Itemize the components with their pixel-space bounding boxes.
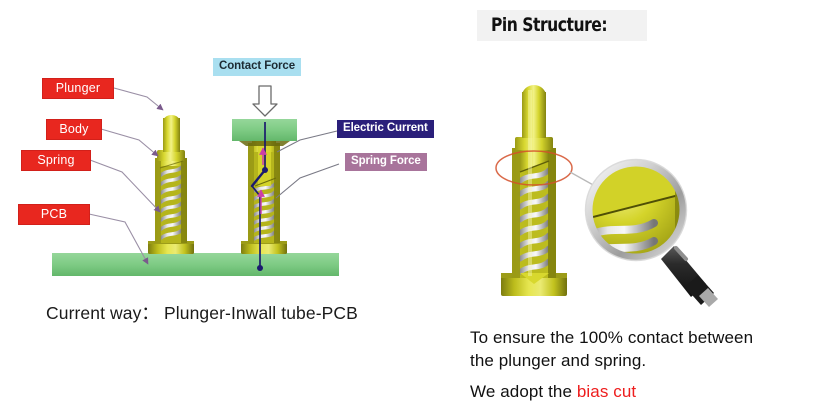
leader-spring-force <box>276 164 339 198</box>
pcb-board <box>52 253 339 276</box>
pin-structure-note: To ensure the 100% contact between the p… <box>470 326 820 403</box>
leader-spring <box>90 160 160 212</box>
leader-lines-left <box>89 88 163 264</box>
left-caption: Current way： Plunger-Inwall tube-PCB <box>46 300 358 325</box>
label-plunger[interactable]: Plunger <box>42 78 114 99</box>
right-pin-structure-illustration <box>470 60 829 320</box>
pin-detailed <box>501 85 567 296</box>
note-line-1: To ensure the 100% contact between <box>470 326 820 349</box>
magnifier <box>582 160 718 308</box>
pin-structure-title-box: Pin Structure: <box>477 10 647 41</box>
label-pcb[interactable]: PCB <box>18 204 90 225</box>
magnifier-handle <box>661 246 718 307</box>
pin-left <box>148 115 194 254</box>
pin-structure-title: Pin Structure: <box>491 14 607 36</box>
leader-body <box>101 129 158 156</box>
leader-plunger <box>114 88 163 110</box>
note-line-2: the plunger and spring. <box>470 349 820 372</box>
label-electric-current[interactable]: Electric Current <box>337 120 434 138</box>
note-line-3-prefix: We adopt the <box>470 382 577 401</box>
note-line-3: We adopt the bias cut <box>470 380 820 403</box>
bias-cut-highlight: bias cut <box>577 382 636 401</box>
diagram-canvas: Plunger Body Spring PCB Contact Force El… <box>0 0 829 417</box>
label-body[interactable]: Body <box>46 119 102 140</box>
label-spring[interactable]: Spring <box>21 150 91 171</box>
contact-force-arrow <box>253 86 277 116</box>
label-contact-force[interactable]: Contact Force <box>213 58 301 76</box>
label-spring-force[interactable]: Spring Force <box>345 153 427 171</box>
